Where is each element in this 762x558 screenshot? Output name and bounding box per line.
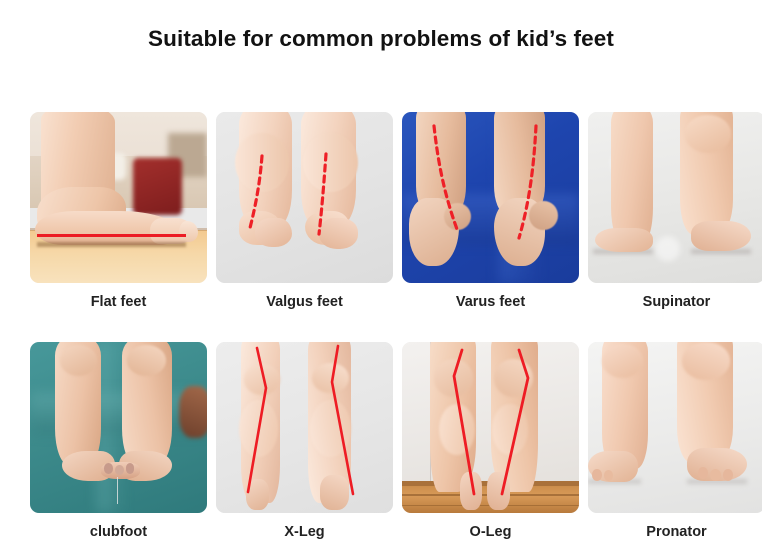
right-foot — [691, 221, 751, 250]
caption-o-leg: O-Leg — [470, 524, 512, 540]
caption-flat-feet: Flat feet — [91, 294, 147, 310]
toe-tip — [179, 221, 198, 242]
page-title: Suitable for common problems of kid’s fe… — [0, 26, 762, 52]
photo-o-leg[interactable] — [402, 342, 579, 513]
left-leg — [611, 112, 653, 244]
photo-pronator[interactable] — [588, 342, 762, 513]
grid-cell-valgus-feet[interactable]: Valgus feet — [216, 112, 393, 310]
grid-cell-clubfoot[interactable]: clubfoot — [30, 342, 207, 540]
toe — [698, 467, 709, 479]
valgus-annotation-lines — [216, 112, 393, 283]
grid-cell-varus-feet[interactable]: Varus feet — [402, 112, 579, 310]
photo-varus-feet[interactable] — [402, 112, 579, 283]
toe — [604, 470, 613, 480]
varus-annotation-lines — [402, 112, 579, 283]
grid-row-1: Flat feet — [30, 112, 737, 310]
grid-row-2: clubfoot — [30, 342, 737, 540]
caption-x-leg: X-Leg — [284, 524, 324, 540]
photo-clubfoot[interactable] — [30, 342, 207, 513]
toe — [710, 469, 721, 481]
toe — [723, 469, 734, 481]
problem-grid: Flat feet — [30, 112, 737, 540]
grid-cell-supinator[interactable]: Supinator — [588, 112, 762, 310]
grid-cell-flat-feet[interactable]: Flat feet — [30, 112, 207, 310]
toe — [126, 463, 135, 473]
page-root: Suitable for common problems of kid’s fe… — [0, 0, 762, 558]
blurred-red-cushion — [133, 158, 183, 214]
caption-varus-feet: Varus feet — [456, 294, 525, 310]
photo-x-leg[interactable] — [216, 342, 393, 513]
red-arch-line-annotation — [37, 234, 186, 237]
grid-cell-pronator[interactable]: Pronator — [588, 342, 762, 540]
caption-clubfoot: clubfoot — [90, 524, 147, 540]
photo-flat-feet[interactable] — [30, 112, 207, 283]
left-knee — [602, 344, 643, 378]
caption-supinator: Supinator — [643, 294, 711, 310]
grid-cell-o-leg[interactable]: O-Leg — [402, 342, 579, 540]
caption-pronator: Pronator — [646, 524, 706, 540]
blurred-background-object — [179, 386, 207, 437]
x-leg-annotation-lines — [216, 342, 393, 513]
toe — [115, 465, 124, 475]
grid-cell-x-leg[interactable]: X-Leg — [216, 342, 393, 540]
toe — [104, 463, 113, 473]
toe — [592, 469, 603, 481]
right-knee — [682, 342, 730, 380]
photo-valgus-feet[interactable] — [216, 112, 393, 283]
foot-shadow — [37, 242, 186, 247]
o-leg-annotation-lines — [402, 342, 579, 513]
left-foot — [595, 228, 653, 252]
caption-valgus-feet: Valgus feet — [266, 294, 343, 310]
thread — [117, 477, 118, 504]
photo-supinator[interactable] — [588, 112, 762, 283]
